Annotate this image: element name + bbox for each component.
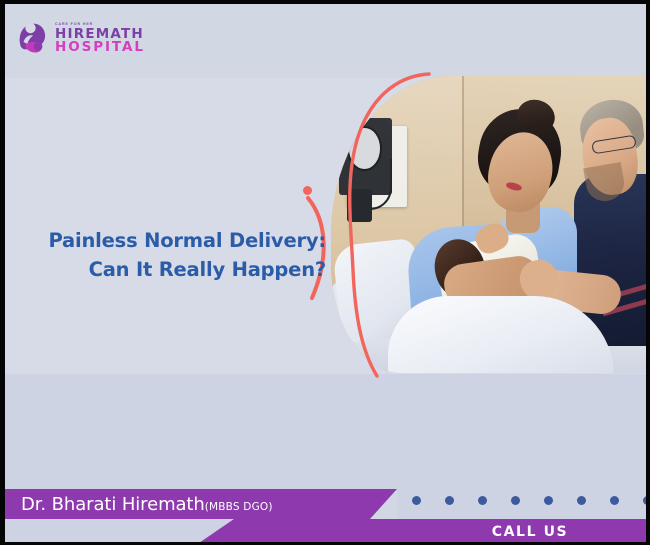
photo-light-overlay: [331, 76, 646, 373]
poster-canvas: CARE FOR HER HIREMATH HOSPITAL: [0, 0, 650, 545]
frame-edge-right: [646, 0, 650, 545]
brand-name-secondary: HOSPITAL: [55, 41, 145, 54]
nav-dot[interactable]: [610, 496, 619, 505]
nav-dot[interactable]: [412, 496, 421, 505]
doctor-name-bar: Dr. Bharati Hiremath(MBBS DGO): [5, 489, 397, 519]
doctor-degree: (MBBS DGO): [205, 501, 273, 513]
brand-logo[interactable]: CARE FOR HER HIREMATH HOSPITAL: [17, 17, 145, 55]
dot-row: [412, 494, 644, 506]
call-us-label[interactable]: CALL US: [470, 519, 590, 545]
page-title: Painless Normal Delivery: Can It Really …: [36, 226, 326, 284]
nav-dot[interactable]: [511, 496, 520, 505]
headline-line-2: Can It Really Happen?: [36, 255, 326, 284]
nav-dot[interactable]: [577, 496, 586, 505]
nav-dot[interactable]: [445, 496, 454, 505]
mother-and-child-icon: [17, 17, 50, 55]
brand-wordmark: CARE FOR HER HIREMATH HOSPITAL: [55, 19, 145, 54]
header-band: CARE FOR HER HIREMATH HOSPITAL: [5, 4, 646, 78]
hero-photo-scene: [331, 76, 646, 373]
doctor-name-text: Dr. Bharati Hiremath: [21, 494, 205, 515]
nav-dot[interactable]: [643, 496, 650, 505]
headline-line-1: Painless Normal Delivery:: [36, 226, 326, 255]
hero-photo: [331, 76, 646, 373]
doctor-name: Dr. Bharati Hiremath(MBBS DGO): [5, 494, 273, 515]
nav-dot[interactable]: [478, 496, 487, 505]
nav-dot[interactable]: [544, 496, 553, 505]
decorative-dot-icon: [303, 186, 312, 195]
